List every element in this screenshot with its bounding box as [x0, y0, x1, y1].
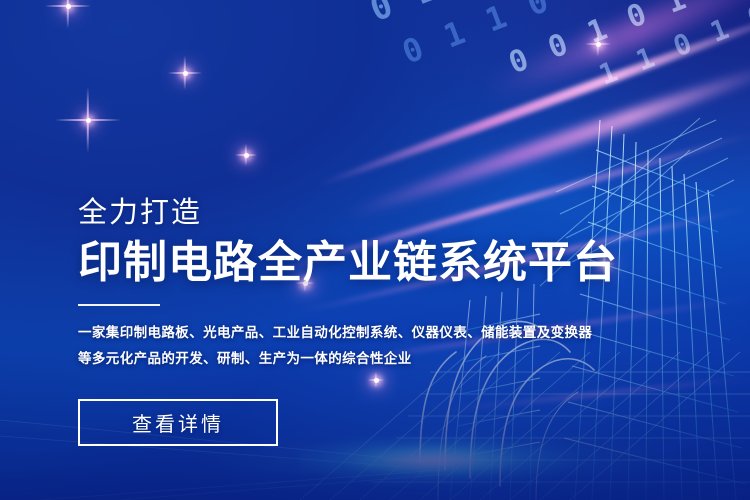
hero-divider [78, 304, 160, 306]
hero-subtitle-line-1: 一家集印制电路板、光电产品、工业自动化控制系统、仪器仪表、储能装置及变换器 [78, 320, 638, 346]
hero-banner: 1 0 0 1 0 1 1 0 0 1 0 1 0 1 1 0 0 1 0 1 … [0, 0, 750, 500]
hero-subtitle: 一家集印制电路板、光电产品、工业自动化控制系统、仪器仪表、储能装置及变换器 等多… [78, 320, 638, 373]
hero-content: 全力打造 印制电路全产业链系统平台 一家集印制电路板、光电产品、工业自动化控制系… [78, 196, 638, 446]
view-details-button[interactable]: 查看详情 [78, 399, 278, 446]
hero-eyebrow: 全力打造 [78, 196, 638, 231]
hero-headline: 印制电路全产业链系统平台 [78, 238, 638, 287]
hero-subtitle-line-2: 等多元化产品的开发、研制、生产为一体的综合性企业 [78, 346, 638, 372]
